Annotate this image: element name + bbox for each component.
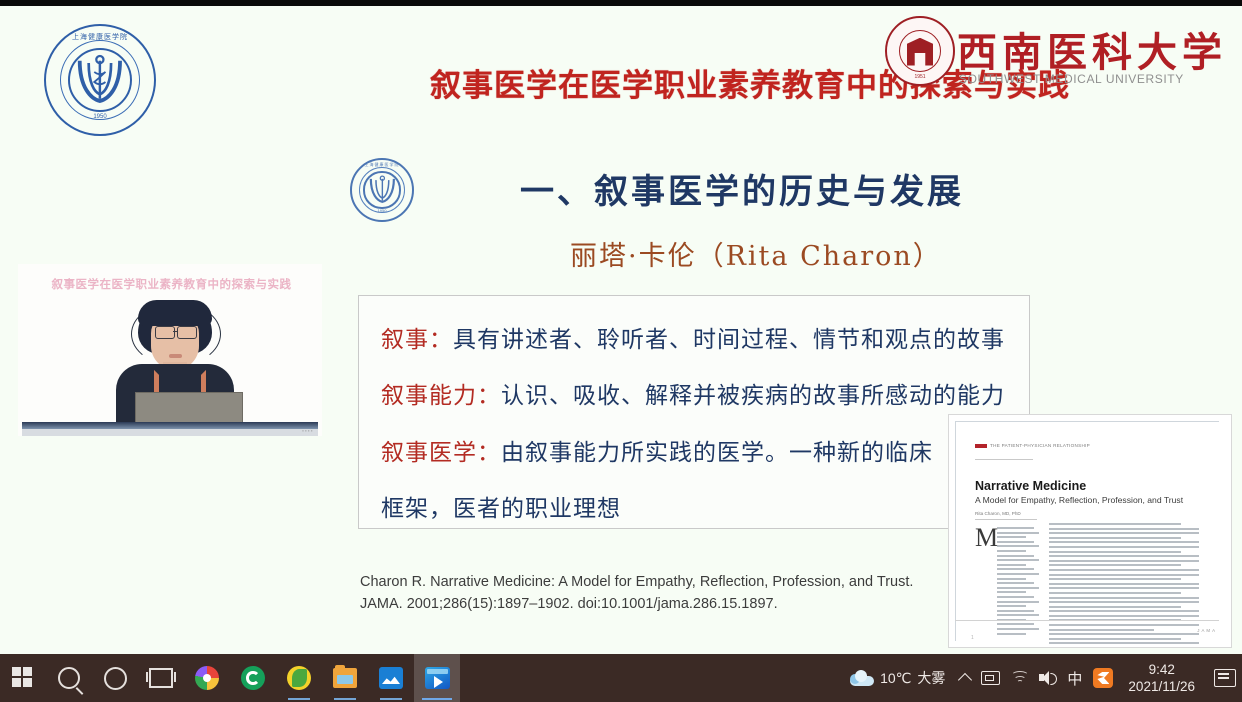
emblem-year: 1950 — [44, 114, 156, 120]
definition-term: 叙事医学： — [381, 440, 501, 466]
glasses-left — [155, 326, 175, 339]
shanghai-university-emblem: 上海健康医学院 1950 — [44, 24, 156, 136]
article-author: Rita Charon, MD, PhD — [975, 511, 1021, 516]
presenter-fringe — [138, 300, 212, 326]
windows-start-icon — [12, 667, 34, 689]
media-player-icon — [425, 667, 450, 689]
brand-name-en: SOUTHWEST MEDICAL UNIVERSITY — [959, 72, 1184, 86]
definition-line: 叙事医学：由叙事能力所实践的医学。一种新的临床 — [381, 433, 933, 467]
section-subtitle: 丽塔·卡伦（Rita Charon） — [570, 234, 942, 273]
lectern-edge — [22, 422, 318, 429]
citation-text: Charon R. Narrative Medicine: A Model fo… — [360, 571, 940, 615]
journal-article-thumbnail: THE PATIENT-PHYSICIAN RELATIONSHIP Narra… — [948, 414, 1232, 648]
taskbar-item-chrome[interactable] — [184, 654, 230, 702]
glasses-right — [177, 326, 197, 339]
webcam-banner-text: 叙事医学在医学职业素养教育中的探索与实践 — [34, 276, 309, 292]
article-subtitle: A Model for Empathy, Reflection, Profess… — [975, 495, 1183, 505]
wifi-icon[interactable] — [1011, 672, 1028, 685]
notification-icon[interactable] — [1214, 669, 1236, 687]
taskbar-item-photos[interactable] — [368, 654, 414, 702]
section-emblem-year: 1950 — [350, 208, 414, 213]
ime-indicator[interactable]: 中 — [1067, 668, 1082, 689]
article-dropcap: M — [975, 525, 998, 551]
cortana-icon — [104, 667, 127, 690]
clock[interactable]: 9:42 2021/11/26 — [1128, 661, 1195, 695]
definition-box: 叙事：具有讲述者、聆听者、时间过程、情节和观点的故事 叙事能力：认识、吸收、解释… — [358, 295, 1030, 529]
photos-icon — [379, 667, 403, 689]
section-emblem-arc-text: 上海健康医学院 — [350, 162, 414, 168]
clock-time: 9:42 — [1149, 661, 1175, 678]
volume-icon[interactable] — [1039, 671, 1056, 685]
definition-text: 具有讲述者、聆听者、时间过程、情节和观点的故事 — [453, 327, 1005, 353]
lectern-surface — [22, 429, 318, 436]
cloud-icon — [850, 670, 874, 686]
swmu-seal-icon: 1951 — [885, 16, 955, 86]
taskbar-left-group — [0, 654, 460, 702]
section-heading: 一、叙事医学的历史与发展 — [520, 164, 964, 213]
southwest-medical-university-brand: 1951 西南医科大学 SOUTHWEST MEDICAL UNIVERSITY — [885, 14, 1235, 92]
cortana-button[interactable] — [92, 654, 138, 702]
file-explorer-icon — [333, 668, 357, 688]
tray-icons: 10℃ 大雾 中 9:42 2021/11/26 — [850, 661, 1236, 695]
start-button[interactable] — [0, 654, 46, 702]
definition-line: 框架，医者的职业理想 — [381, 489, 621, 523]
definition-line: 叙事：具有讲述者、聆听者、时间过程、情节和观点的故事 — [381, 320, 1005, 354]
taskbar-item-file-explorer[interactable] — [322, 654, 368, 702]
thunder-download-icon[interactable] — [1093, 668, 1113, 688]
definition-text: 由叙事能力所实践的医学。一种新的临床 — [501, 440, 933, 466]
presenter-webcam-overlay: 叙事医学在医学职业素养教育中的探索与实践 ▪▪▪▪ — [18, 264, 322, 436]
article-page-number: 1 — [971, 635, 974, 641]
definition-term: 叙事： — [381, 327, 453, 353]
chevron-up-icon[interactable] — [958, 673, 972, 687]
caduceus-icon — [367, 175, 398, 204]
article-kicker: THE PATIENT-PHYSICIAN RELATIONSHIP — [975, 443, 1090, 448]
weather-widget[interactable]: 10℃ 大雾 — [850, 668, 945, 688]
system-tray: 10℃ 大雾 中 9:42 2021/11/26 — [850, 654, 1242, 702]
task-view-icon — [149, 668, 173, 688]
browser-green-icon — [241, 666, 265, 690]
presentation-slide: 上海健康医学院 1950 叙事医学在医学职业素养教育中的探索与实践 1951 西… — [0, 6, 1242, 654]
taskbar-item-media-player[interactable] — [414, 654, 460, 702]
chrome-icon — [195, 666, 219, 690]
article-footer: JAMA — [1197, 628, 1217, 633]
article-column-right — [1049, 523, 1199, 648]
webcam-corner-mark: ▪▪▪▪ — [302, 428, 314, 433]
taskbar-search-button[interactable] — [46, 654, 92, 702]
taskbar-item-browser-green[interactable] — [230, 654, 276, 702]
taskbar-item-app-yellow[interactable] — [276, 654, 322, 702]
taskbar: 10℃ 大雾 中 9:42 2021/11/26 — [0, 654, 1242, 702]
section-emblem: 上海健康医学院 1950 — [350, 158, 414, 222]
definition-line: 叙事能力：认识、吸收、解释并被疾病的故事所感动的能力 — [381, 376, 1005, 410]
brand-name-cn: 西南医科大学 — [957, 20, 1227, 78]
screen: 上海健康医学院 1950 叙事医学在医学职业素养教育中的探索与实践 1951 西… — [0, 0, 1242, 702]
caduceus-icon — [73, 54, 127, 106]
glasses-bridge — [173, 331, 178, 332]
clock-date: 2021/11/26 — [1128, 678, 1195, 695]
tray-icon[interactable] — [981, 671, 1000, 685]
task-view-button[interactable] — [138, 654, 184, 702]
presenter-mouth — [169, 354, 182, 358]
app-yellow-icon — [287, 666, 311, 690]
swmu-seal-year: 1951 — [887, 74, 953, 80]
weather-temperature: 10℃ — [880, 670, 911, 687]
definition-term: 叙事能力： — [381, 383, 501, 409]
emblem-arc-text: 上海健康医学院 — [44, 32, 156, 42]
definition-text: 框架，医者的职业理想 — [381, 496, 621, 522]
search-icon — [58, 667, 80, 689]
weather-description: 大雾 — [917, 668, 945, 688]
definition-text: 认识、吸收、解释并被疾病的故事所感动的能力 — [501, 383, 1005, 409]
article-title: Narrative Medicine — [975, 479, 1086, 493]
